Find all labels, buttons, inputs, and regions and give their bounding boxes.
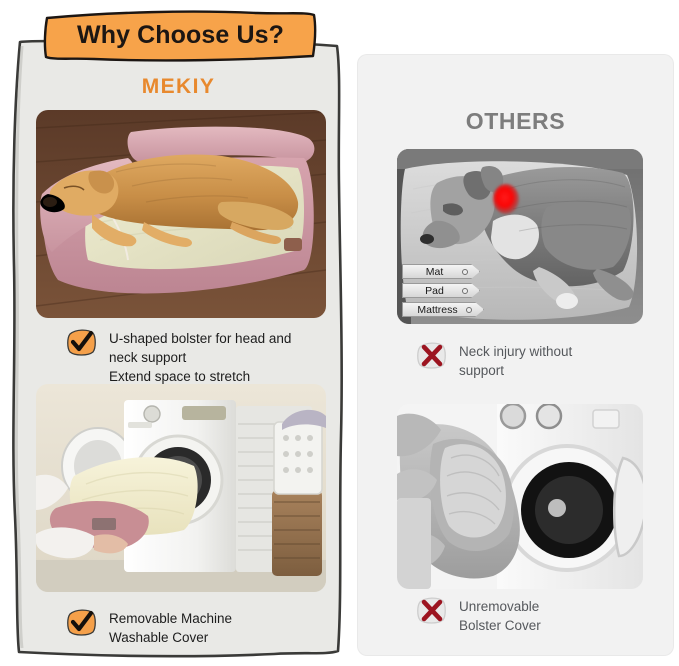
others-title: OTHERS: [358, 108, 673, 135]
layer-label-dot-icon: [462, 288, 468, 294]
why-choose-us-ribbon: Why Choose Us?: [42, 9, 319, 63]
cross-mark-icon: [416, 341, 447, 370]
layer-label-text: Mat: [426, 266, 444, 278]
right-caption-neck-injury: Neck injury without support: [416, 341, 661, 380]
others-comparison-panel: OTHERS: [358, 55, 673, 655]
ribbon-label: Why Choose Us?: [42, 9, 319, 63]
brand-title: MEKIY: [6, 75, 351, 99]
layer-label-dot-icon: [466, 307, 472, 313]
neck-injury-marker-icon: [493, 184, 519, 214]
caption-text: Removable Machine Washable Cover: [109, 608, 232, 647]
left-caption-washable-cover: Removable Machine Washable Cover: [66, 608, 336, 647]
layer-label-group: Mat Pad Mattress: [402, 264, 484, 317]
layer-label-dot-icon: [462, 269, 468, 275]
check-mark-icon: [66, 608, 97, 637]
mekiy-comparison-panel: Why Choose Us? MEKIY: [6, 36, 351, 660]
photo-unremovable-bolster-at-washer: [397, 404, 643, 589]
photo-dog-on-mekiy-bolster-bed: [36, 110, 326, 318]
layer-label-mattress: Mattress: [402, 302, 484, 317]
layer-label-mat: Mat: [402, 264, 480, 279]
layer-label-text: Mattress: [417, 304, 457, 316]
photo-washable-cover-laundry: [36, 384, 326, 592]
left-caption-bolster-support: U-shaped bolster for head and neck suppo…: [66, 328, 336, 386]
layer-label-text: Pad: [425, 285, 444, 297]
check-mark-icon: [66, 328, 97, 357]
caption-text: Unremovable Bolster Cover: [459, 596, 541, 635]
caption-text: U-shaped bolster for head and neck suppo…: [109, 328, 291, 386]
cross-mark-icon: [416, 596, 447, 625]
layer-label-pad: Pad: [402, 283, 480, 298]
caption-text: Neck injury without support: [459, 341, 572, 380]
right-caption-unremovable-cover: Unremovable Bolster Cover: [416, 596, 661, 635]
photo-dog-neck-injury-on-flat-mat: Mat Pad Mattress: [397, 149, 643, 324]
